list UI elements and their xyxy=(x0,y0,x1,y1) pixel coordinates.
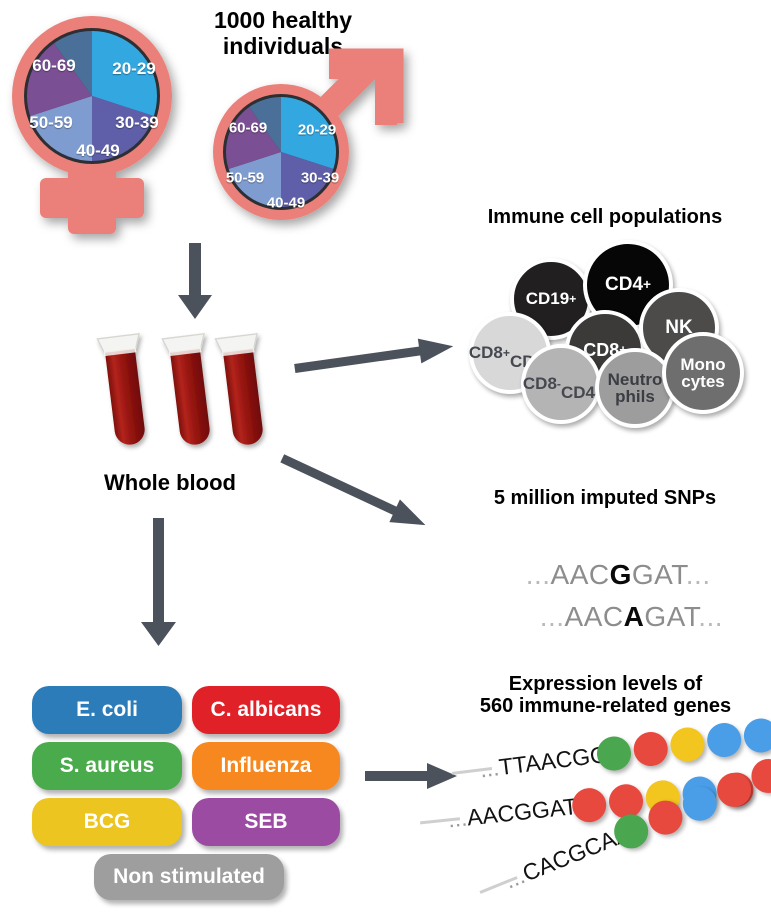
arrow-cohort-to-blood xyxy=(175,243,215,321)
arrow-stimuli-to-expression xyxy=(365,760,460,794)
stimulus-c-albicans[interactable]: C. albicans xyxy=(192,686,340,734)
expression-dot xyxy=(643,795,687,839)
strand-bases-1: TTAACGG xyxy=(497,741,609,780)
arrow-blood-to-stimuli xyxy=(139,518,179,648)
arrow-blood-to-immune xyxy=(295,330,460,380)
snp-sequences: ...AACGGAT... ...AACAGAT... xyxy=(470,527,760,617)
expression-dot xyxy=(678,782,722,826)
stimulus-e-coli[interactable]: E. coli xyxy=(32,686,182,734)
snp-left-2: AAC xyxy=(565,601,624,632)
immune-cell-monocytes: Monocytes xyxy=(662,332,744,414)
stimuli-panel: E. coli C. albicans S. aureus Influenza … xyxy=(32,686,342,896)
stimulus-seb[interactable]: SEB xyxy=(192,798,340,846)
strand-sequence-2: ...AACGGAT xyxy=(447,793,579,833)
stimulus-bcg[interactable]: BCG xyxy=(32,798,182,846)
strand-sequence-1: ...TTAACGG xyxy=(478,741,609,783)
snp-variant-2: A xyxy=(624,601,645,632)
strand-bases-2: AACGGAT xyxy=(466,793,579,830)
expression-dot xyxy=(712,768,756,812)
expression-dot xyxy=(705,721,743,759)
snp-prefix-2: ... xyxy=(540,601,565,632)
female-symbol: 20-29 30-39 40-49 50-59 60-69 xyxy=(6,10,191,240)
stimulus-non-stimulated[interactable]: Non stimulated xyxy=(94,854,284,900)
diagram-canvas: 1000 healthy individuals xyxy=(0,0,771,922)
snp-heading: 5 million imputed SNPs xyxy=(440,487,770,509)
arrow-blood-to-snp xyxy=(282,450,457,555)
snp-row-2: ...AACAGAT... xyxy=(490,569,723,665)
immune-heading: Immune cell populations xyxy=(440,206,770,228)
expression-heading: Expression levels of 560 immune-related … xyxy=(440,673,771,718)
expression-strands: ...TTAACGG ...AACGGAT ...CACGCAA xyxy=(448,722,771,912)
immune-cell-cd8neg-cd4neg: CD8-CD4- xyxy=(521,344,601,424)
male-symbol: 20-29 30-39 40-49 50-59 60-69 xyxy=(205,55,410,245)
immune-cell-cluster: CD19+ CD4+ CD8+CD4+ CD8+ NK CD8-CD4- Neu… xyxy=(455,240,755,420)
whole-blood-label: Whole blood xyxy=(60,470,280,496)
stimulus-s-aureus[interactable]: S. aureus xyxy=(32,742,182,790)
expression-dot xyxy=(668,726,706,764)
expression-dot xyxy=(632,730,670,768)
stimulus-influenza[interactable]: Influenza xyxy=(192,742,340,790)
whole-blood-tubes xyxy=(95,330,295,470)
snp-right-2: GAT xyxy=(644,601,698,632)
expression-dot xyxy=(742,717,771,755)
snp-suffix-2: ... xyxy=(698,601,723,632)
